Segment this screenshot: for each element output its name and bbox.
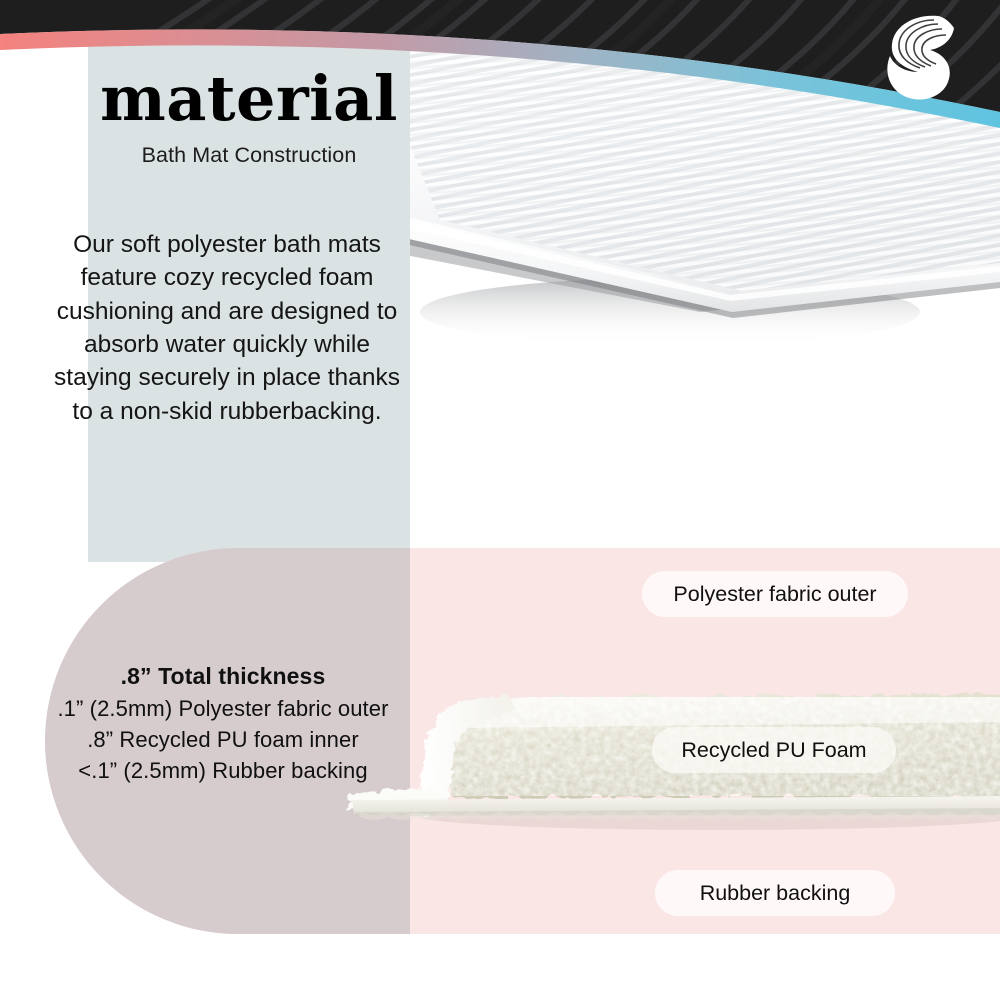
page-subtitle: Bath Mat Construction: [88, 143, 410, 169]
title-block: material Bath Mat Construction: [88, 70, 410, 169]
thickness-spec-block: .8” Total thickness .1” (2.5mm) Polyeste…: [28, 660, 418, 786]
description-paragraph: Our soft polyester bath mats feature coz…: [44, 228, 410, 428]
callout-polyester-fabric-outer: Polyester fabric outer: [642, 571, 908, 617]
spec-layer-foam: .8” Recycled PU foam inner: [28, 724, 418, 755]
spec-layer-rubber: <.1” (2.5mm) Rubber backing: [28, 755, 418, 786]
callout-rubber-backing: Rubber backing: [655, 870, 895, 916]
infographic-canvas: material Bath Mat Construction Our soft …: [0, 0, 1000, 1000]
spec-total-thickness: .8” Total thickness: [28, 660, 418, 693]
spec-layer-fabric: .1” (2.5mm) Polyester fabric outer: [28, 693, 418, 724]
callout-recycled-pu-foam: Recycled PU Foam: [652, 727, 896, 773]
page-title: material: [88, 70, 410, 129]
